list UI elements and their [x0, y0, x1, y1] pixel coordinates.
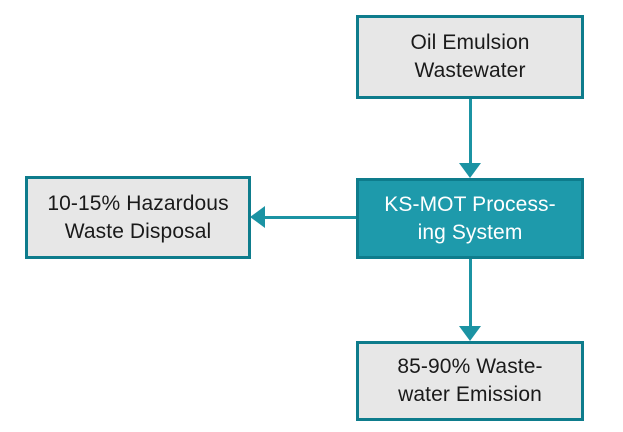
flowchart-canvas: Oil Emulsion Wastewater KS-MOT Process- …	[0, 0, 623, 432]
connector-line	[469, 99, 472, 165]
arrowhead-down-icon	[459, 326, 481, 341]
node-label: 10-15% Hazardous Waste Disposal	[34, 190, 242, 245]
node-wastewater-emission[interactable]: 85-90% Waste- water Emission	[356, 341, 584, 421]
node-label: KS-MOT Process- ing System	[365, 191, 575, 246]
connector-line	[265, 216, 357, 219]
arrowhead-down-icon	[459, 163, 481, 178]
node-ks-mot-processing-system[interactable]: KS-MOT Process- ing System	[356, 178, 584, 259]
node-label: 85-90% Waste- water Emission	[365, 353, 575, 408]
connector-line	[469, 259, 472, 327]
node-oil-emulsion-wastewater[interactable]: Oil Emulsion Wastewater	[356, 15, 584, 99]
arrowhead-left-icon	[250, 206, 265, 228]
node-label: Oil Emulsion Wastewater	[365, 29, 575, 84]
node-hazardous-waste-disposal[interactable]: 10-15% Hazardous Waste Disposal	[25, 176, 251, 259]
